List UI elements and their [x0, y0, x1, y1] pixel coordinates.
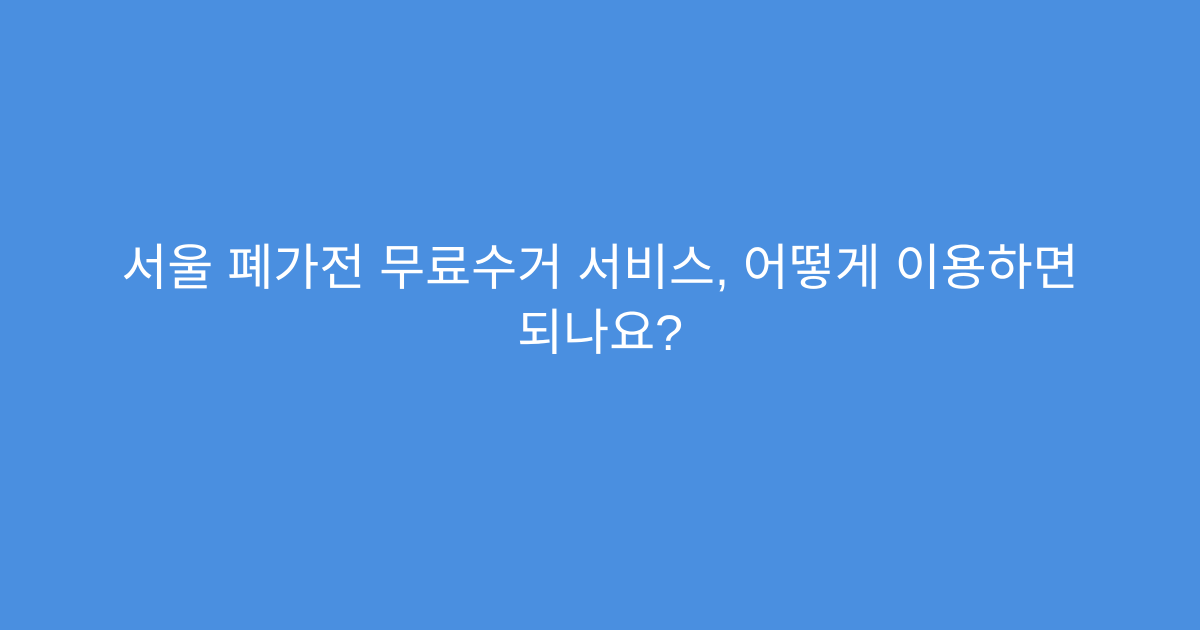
og-share-card: 서울 폐가전 무료수거 서비스, 어떻게 이용하면 되나요? — [0, 0, 1200, 630]
page-title: 서울 폐가전 무료수거 서비스, 어떻게 이용하면 되나요? — [72, 236, 1128, 366]
title-block: 서울 폐가전 무료수거 서비스, 어떻게 이용하면 되나요? — [0, 236, 1200, 366]
